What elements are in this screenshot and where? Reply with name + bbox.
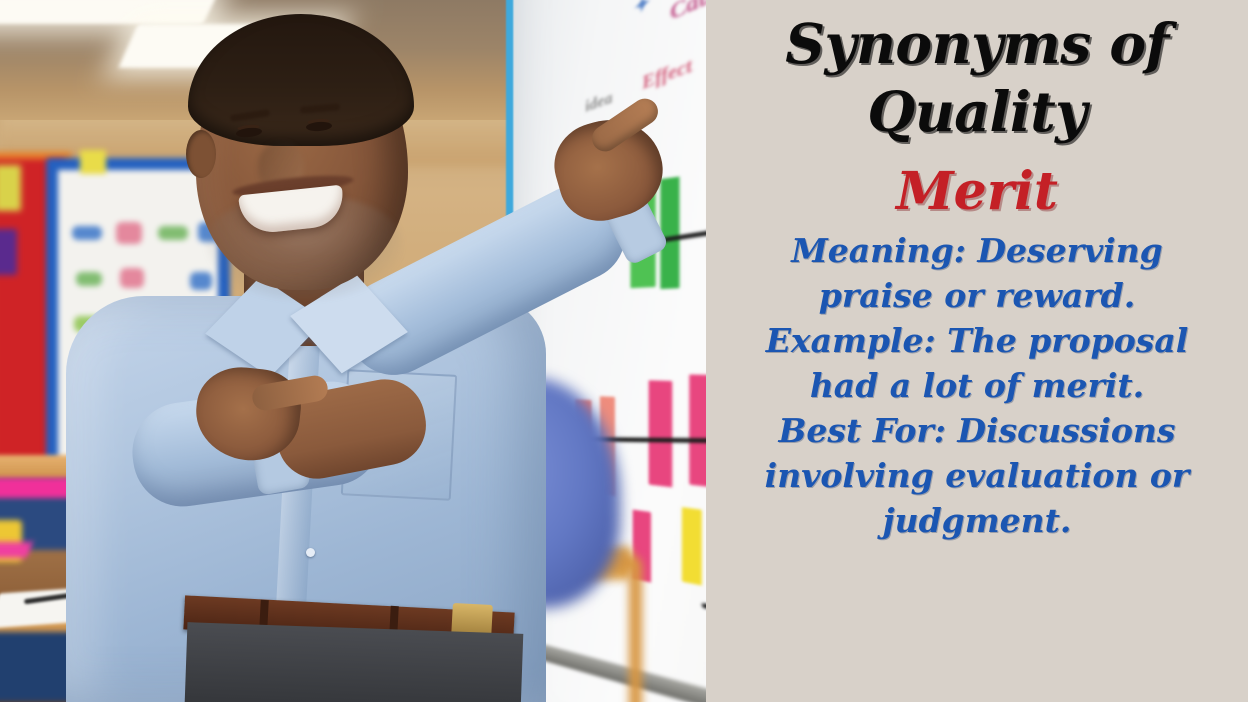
shirt-button: [306, 548, 315, 557]
sticky-note: [660, 177, 679, 289]
poster-note: [158, 226, 188, 240]
definition-line: Best For: Discussions: [714, 408, 1240, 453]
yellow-tab: [80, 150, 106, 174]
yellow-card: [0, 165, 21, 211]
classroom-photo: Cause ✦ Effect idea a: [0, 0, 710, 702]
sticky-note: [682, 507, 702, 585]
slide-canvas: Cause ✦ Effect idea a: [0, 0, 1248, 702]
teacher-trousers: [185, 622, 524, 702]
sticky-note: [649, 380, 673, 487]
purple-card: [0, 229, 17, 275]
definition-block: Meaning: Deserving praise or reward. Exa…: [714, 228, 1240, 543]
ceiling-light-icon: [0, 0, 217, 24]
poster-note: [120, 268, 144, 288]
definition-line: Meaning: Deserving: [714, 228, 1240, 273]
definition-line: judgment.: [714, 498, 1240, 543]
title-line-2: Quality: [867, 79, 1086, 144]
poster-note: [116, 222, 142, 244]
poster-note: [190, 272, 212, 290]
page-title: Synonyms of Quality: [717, 10, 1237, 146]
teacher-ear: [186, 130, 216, 178]
whiteboard-writing: ✦: [631, 0, 651, 20]
whiteboard-writing: Effect: [640, 55, 693, 95]
poster-note: [72, 226, 102, 240]
headword: Merit: [896, 160, 1058, 224]
definition-line: involving evaluation or: [714, 453, 1240, 498]
text-panel: Synonyms of Quality Merit Meaning: Deser…: [706, 0, 1248, 702]
whiteboard-writing: Cause: [668, 0, 710, 26]
whiteboard-writing: idea: [584, 89, 614, 116]
definition-line: Example: The proposal: [714, 318, 1240, 363]
definition-line: praise or reward.: [714, 273, 1240, 318]
poster-note: [76, 272, 102, 286]
title-line-1: Synonyms of: [785, 11, 1168, 76]
definition-line: had a lot of merit.: [714, 363, 1240, 408]
